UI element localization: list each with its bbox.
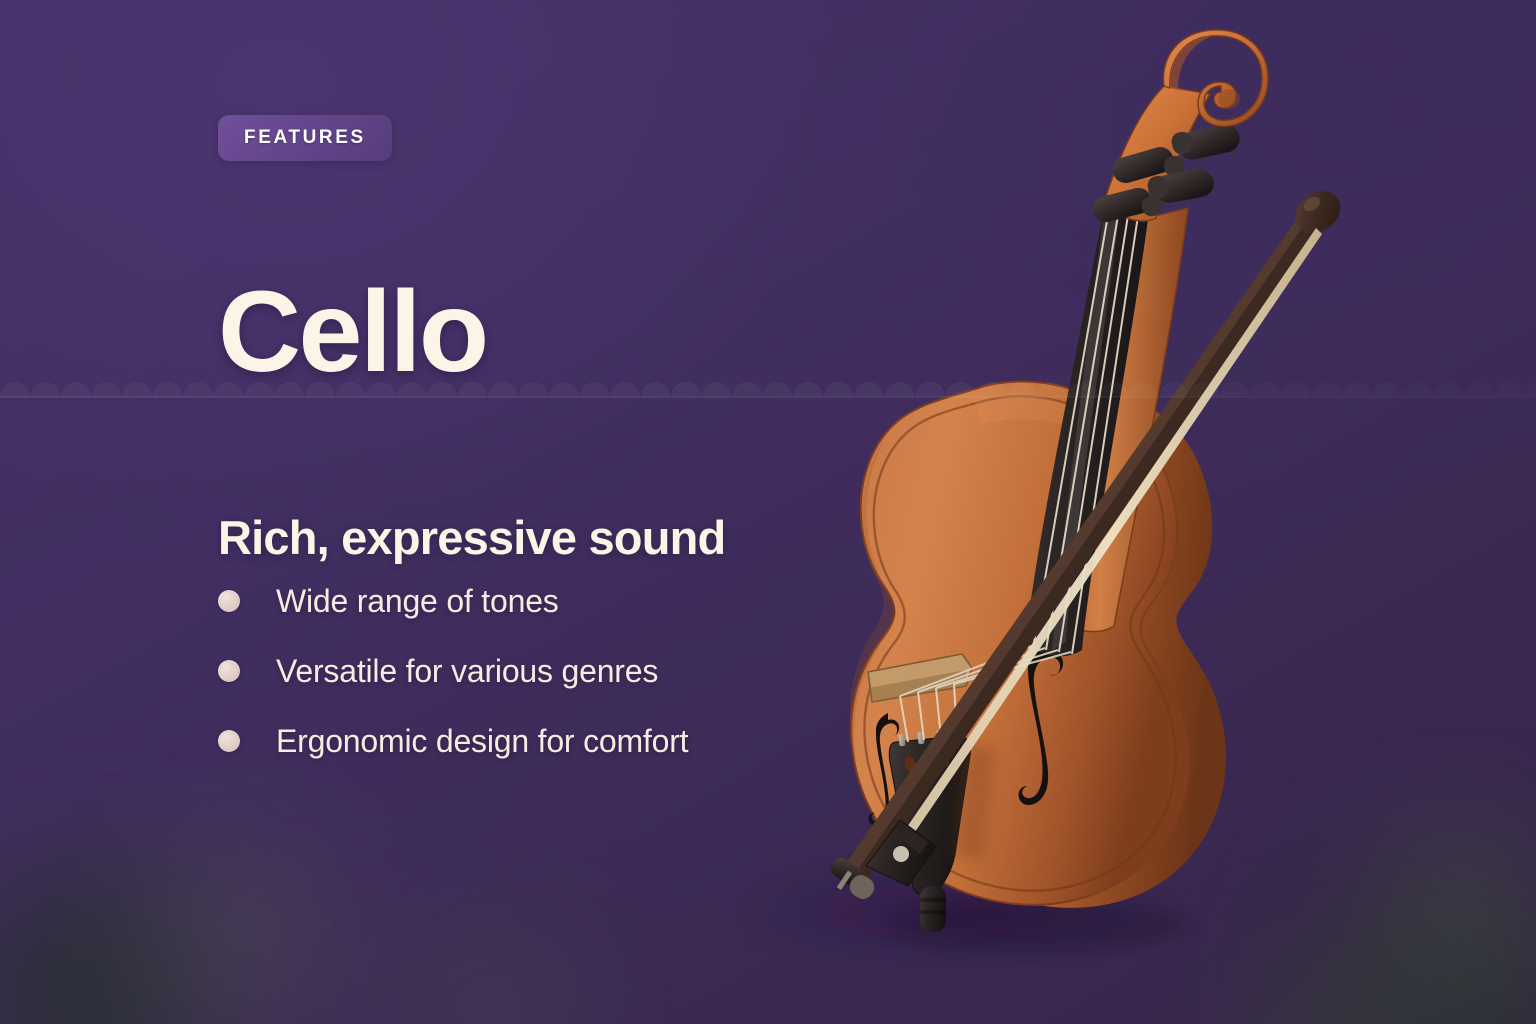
list-item: Ergonomic design for comfort xyxy=(218,718,688,764)
features-badge-label: FEATURES xyxy=(244,128,366,147)
feature-label: Versatile for various genres xyxy=(276,655,658,687)
feature-label: Wide range of tones xyxy=(276,585,559,617)
bullet-dot-icon xyxy=(218,660,240,682)
section-subtitle: Rich, expressive sound xyxy=(218,512,725,564)
list-item: Wide range of tones xyxy=(218,578,688,624)
page-title: Cello xyxy=(218,275,487,390)
hero-canvas: FEATURES Cello Rich, expressive sound Wi… xyxy=(0,0,1536,1024)
bullet-dot-icon xyxy=(218,590,240,612)
features-badge[interactable]: FEATURES xyxy=(218,115,392,161)
content-column: FEATURES Cello Rich, expressive sound Wi… xyxy=(218,0,978,1024)
list-item: Versatile for various genres xyxy=(218,648,688,694)
feature-label: Ergonomic design for comfort xyxy=(276,725,688,757)
bullet-dot-icon xyxy=(218,730,240,752)
feature-list: Wide range of tones Versatile for variou… xyxy=(218,578,688,788)
